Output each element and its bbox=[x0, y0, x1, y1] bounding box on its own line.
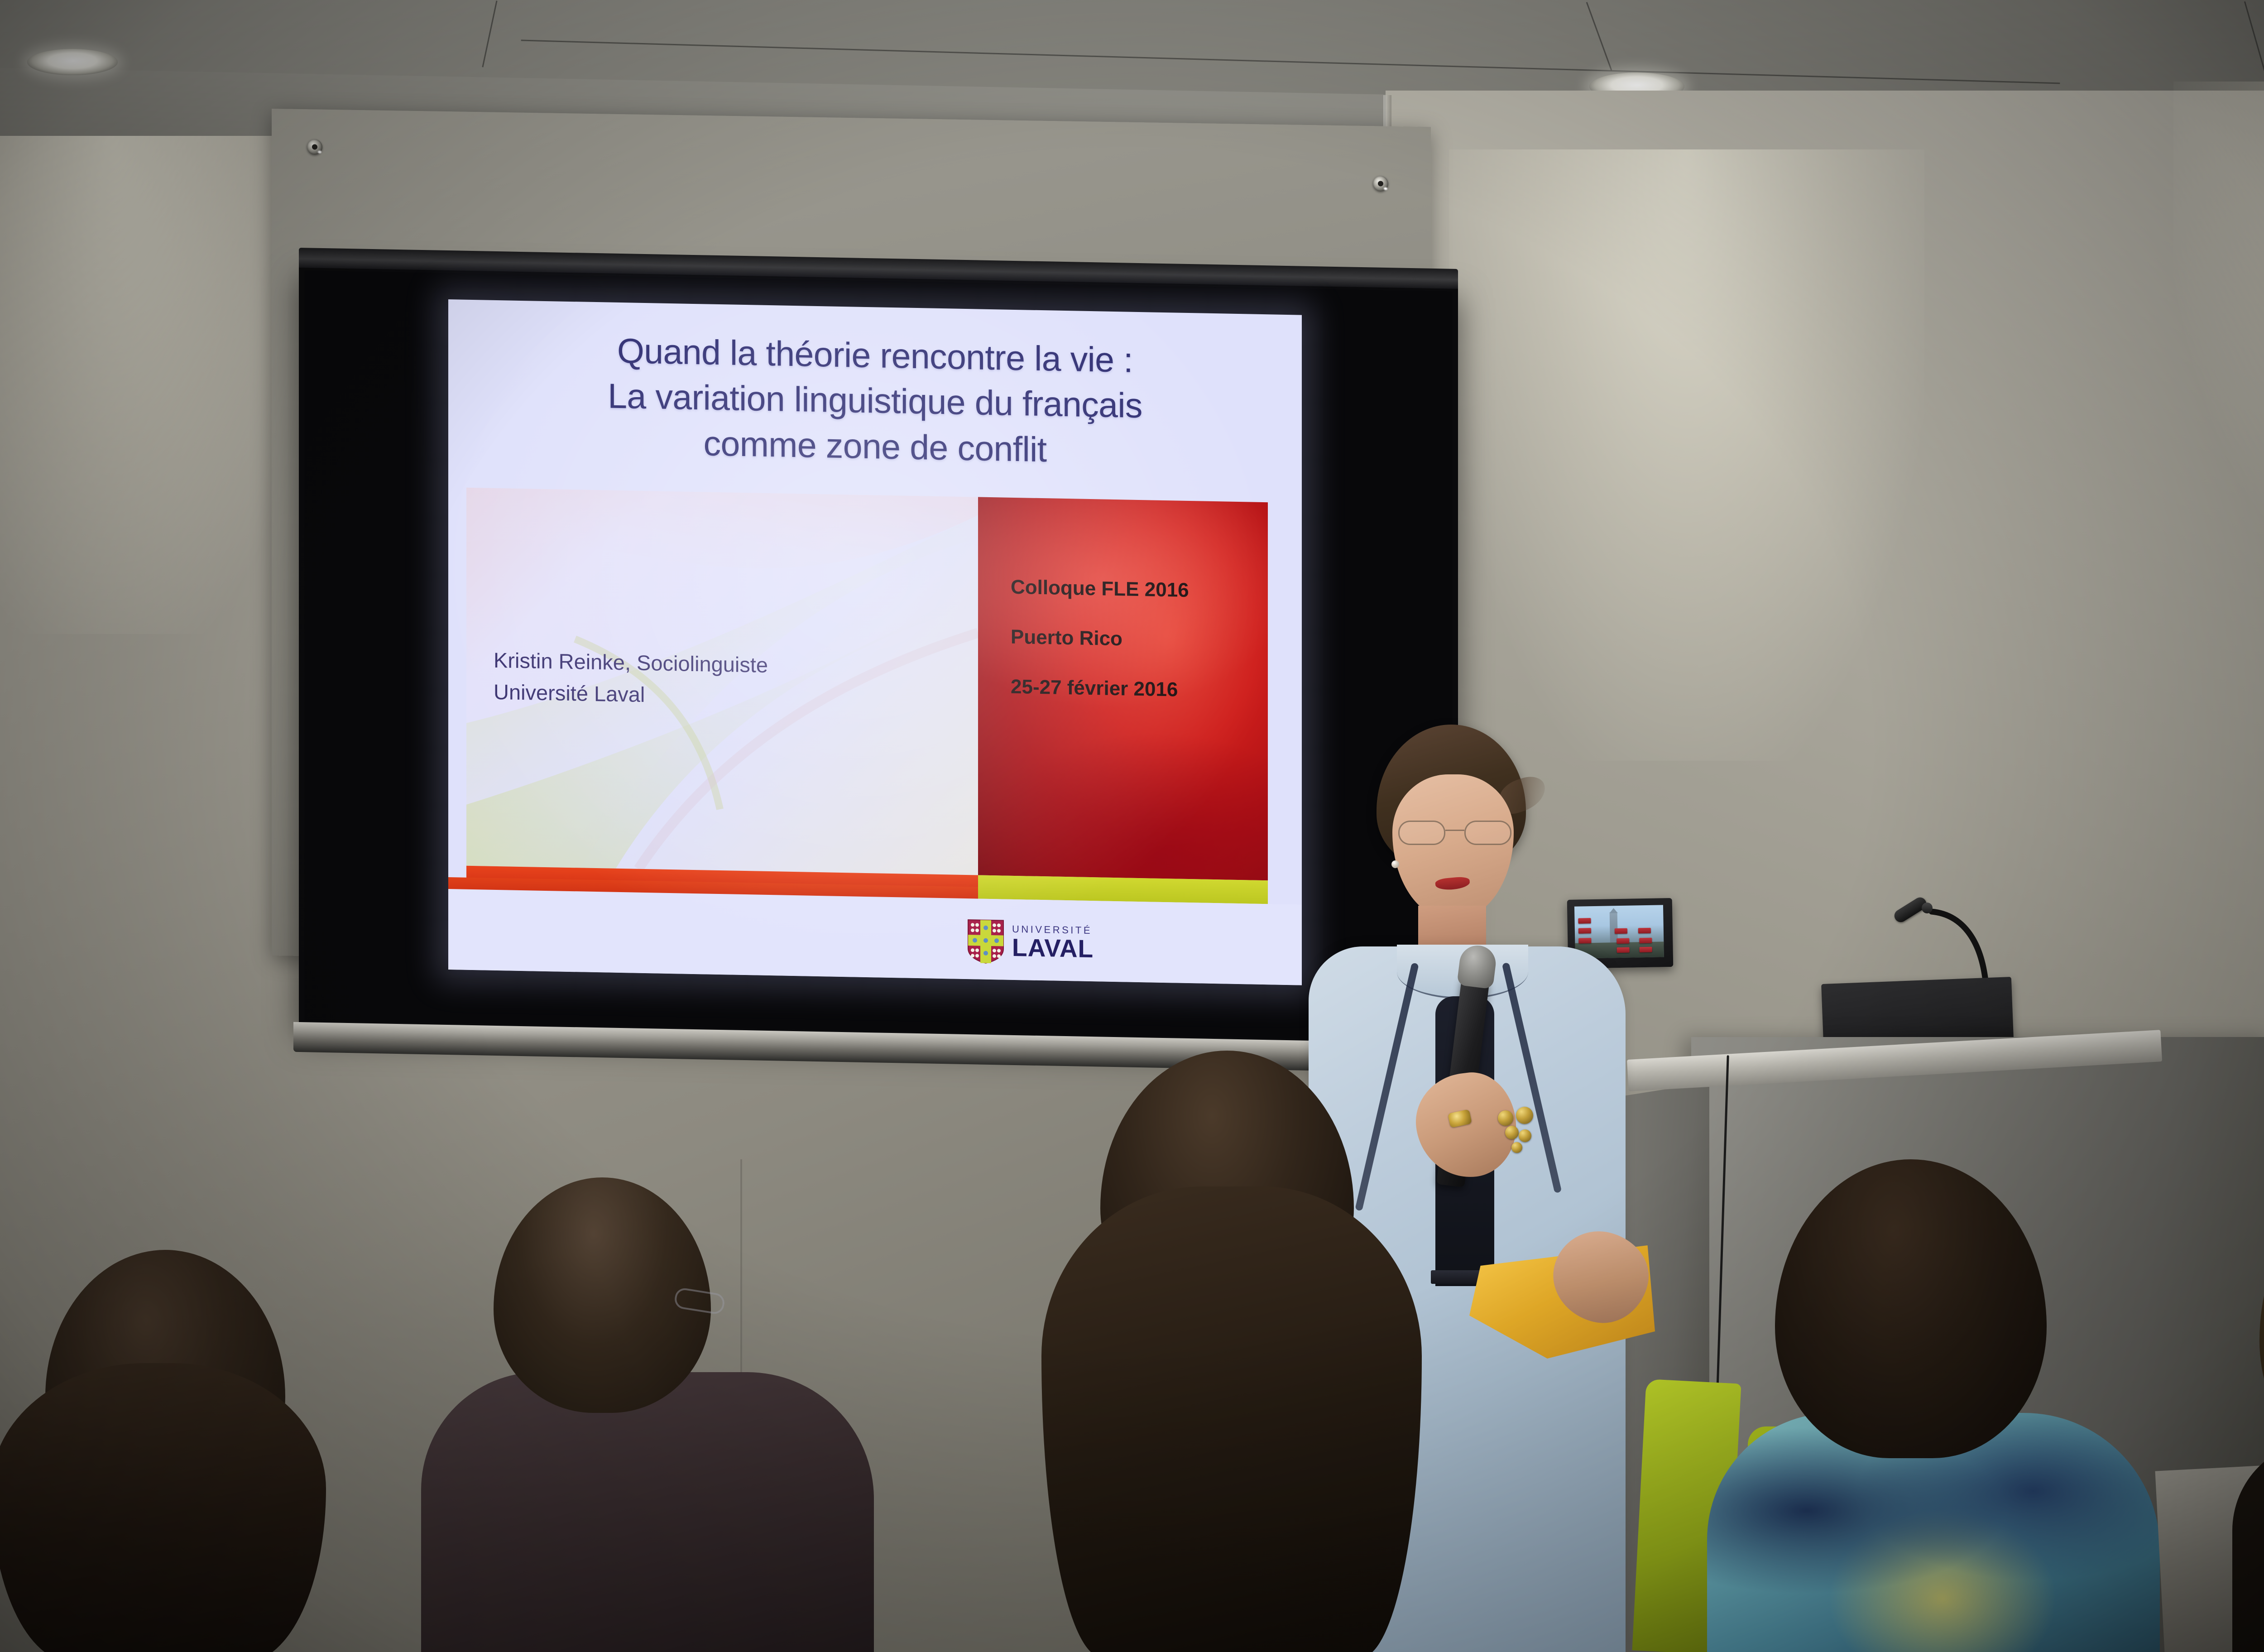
audience-head bbox=[2259, 1168, 2264, 1476]
university-laval-logo: UNIVERSITÉ LAVAL bbox=[967, 918, 1094, 966]
slide-event-block: Colloque FLE 2016 Puerto Rico 25-27 févr… bbox=[1011, 577, 1189, 700]
audience-hair bbox=[0, 1363, 326, 1652]
audience-hair bbox=[1041, 1186, 1422, 1652]
audience-head bbox=[1775, 1159, 2047, 1458]
ceiling-downlight-icon bbox=[27, 49, 118, 75]
eyeglasses-icon bbox=[1396, 821, 1514, 845]
gooseneck-microphone[interactable] bbox=[1893, 899, 2001, 989]
slide-title-line-3: comme zone de conflit bbox=[704, 421, 1047, 472]
slide-event-name: Colloque FLE 2016 bbox=[1011, 577, 1189, 600]
slide-event-location: Puerto Rico bbox=[1011, 627, 1189, 650]
wordmark-laval: LAVAL bbox=[1012, 935, 1094, 961]
presenter-face bbox=[1392, 774, 1514, 919]
audience-member-front-left-center bbox=[421, 1177, 874, 1652]
slide-title-block: Quand la théorie rencontre la vie : La v… bbox=[448, 299, 1302, 503]
audience-member-front-left bbox=[0, 1250, 426, 1652]
conference-room-photo: Quand la théorie rencontre la vie : La v… bbox=[0, 0, 2264, 1652]
audience-member-front-center bbox=[1014, 1051, 1521, 1652]
university-wordmark: UNIVERSITÉ LAVAL bbox=[1012, 924, 1094, 961]
university-crest-icon bbox=[967, 918, 1005, 965]
presentation-slide: Quand la théorie rencontre la vie : La v… bbox=[448, 299, 1302, 985]
audience-member-far-right bbox=[2232, 1168, 2264, 1652]
audience-shoulders bbox=[2232, 1440, 2264, 1652]
slide-event-dates: 25-27 février 2016 bbox=[1011, 677, 1189, 700]
slide-footer bbox=[448, 889, 1302, 985]
microphone-joint-icon bbox=[1922, 903, 1933, 913]
slide-author-block: Kristin Reinke, Sociolinguiste Universit… bbox=[494, 644, 946, 716]
mount-screw-icon bbox=[1373, 176, 1388, 192]
wall-mounted-flat-panel-display[interactable]: Quand la théorie rencontre la vie : La v… bbox=[299, 265, 1458, 1047]
audience-member-front-right bbox=[1693, 1159, 2182, 1652]
mount-screw-icon bbox=[307, 139, 322, 155]
pearl-earring-icon bbox=[1391, 860, 1399, 868]
slide-title-line-2: La variation linguistique du français bbox=[608, 374, 1142, 429]
slide-event-panel: Colloque FLE 2016 Puerto Rico 25-27 févr… bbox=[978, 497, 1268, 880]
audience-shoulders bbox=[421, 1372, 874, 1652]
